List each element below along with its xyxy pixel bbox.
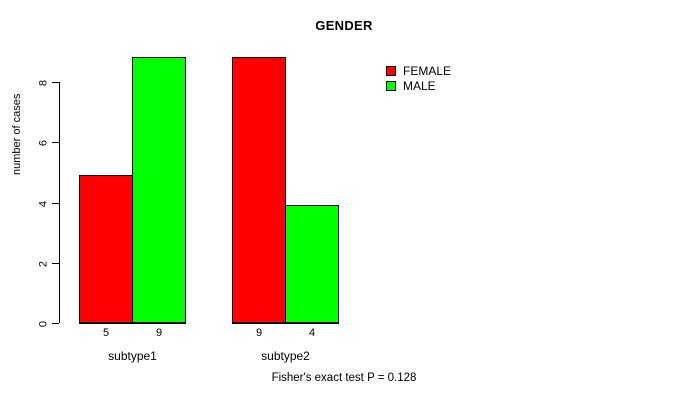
bar-subtype2-male bbox=[285, 205, 339, 323]
chart-canvas: GENDER 0 2 4 6 8 number of cases 5 9 sub… bbox=[0, 0, 690, 400]
legend-label-male: MALE bbox=[403, 80, 436, 92]
y-axis-title: number of cases bbox=[11, 161, 23, 175]
chart-title-text: GENDER bbox=[315, 18, 372, 33]
x-axis-segment-subtype1 bbox=[79, 323, 186, 324]
legend-item-male: MALE bbox=[386, 78, 451, 93]
y-axis-tick-8: 8 bbox=[52, 82, 59, 83]
x-axis-group-label-subtype2: subtype2 bbox=[232, 349, 339, 363]
y-axis-tick-label-6: 6 bbox=[38, 139, 49, 145]
bar-value-label-subtype2-male: 4 bbox=[285, 327, 339, 339]
y-axis-tick-6: 6 bbox=[52, 142, 59, 143]
chart-title: GENDER bbox=[0, 18, 690, 33]
y-axis-tick-label-2: 2 bbox=[38, 260, 49, 266]
legend-label-female: FEMALE bbox=[403, 65, 451, 77]
legend-item-female: FEMALE bbox=[386, 63, 451, 78]
bar-subtype1-female bbox=[79, 175, 133, 323]
plot-panel: 0 2 4 6 8 number of cases 5 9 subtype1 9… bbox=[59, 40, 359, 323]
bar-value-label-subtype1-female: 5 bbox=[79, 327, 133, 339]
x-axis-group-label-subtype1: subtype1 bbox=[79, 349, 186, 363]
bar-subtype2-female bbox=[232, 57, 286, 323]
chart-footnote: Fisher's exact test P = 0.128 bbox=[0, 372, 690, 384]
bar-value-label-subtype1-male: 9 bbox=[132, 327, 186, 339]
chart-footnote-text: Fisher's exact test P = 0.128 bbox=[272, 372, 417, 384]
y-axis-tick-2: 2 bbox=[52, 263, 59, 264]
legend-swatch-male bbox=[386, 81, 396, 91]
y-axis-tick-4: 4 bbox=[52, 203, 59, 204]
x-axis-segment-subtype2 bbox=[232, 323, 339, 324]
bar-subtype1-male bbox=[132, 57, 186, 323]
y-axis-line bbox=[59, 82, 60, 323]
chart-legend: FEMALE MALE bbox=[386, 63, 451, 93]
legend-swatch-female bbox=[386, 66, 396, 76]
y-axis-tick-label-8: 8 bbox=[38, 79, 49, 85]
bar-value-label-subtype2-female: 9 bbox=[232, 327, 286, 339]
y-axis-tick-label-4: 4 bbox=[38, 200, 49, 206]
y-axis-tick-0: 0 bbox=[52, 323, 59, 324]
y-axis-tick-label-0: 0 bbox=[38, 320, 49, 326]
